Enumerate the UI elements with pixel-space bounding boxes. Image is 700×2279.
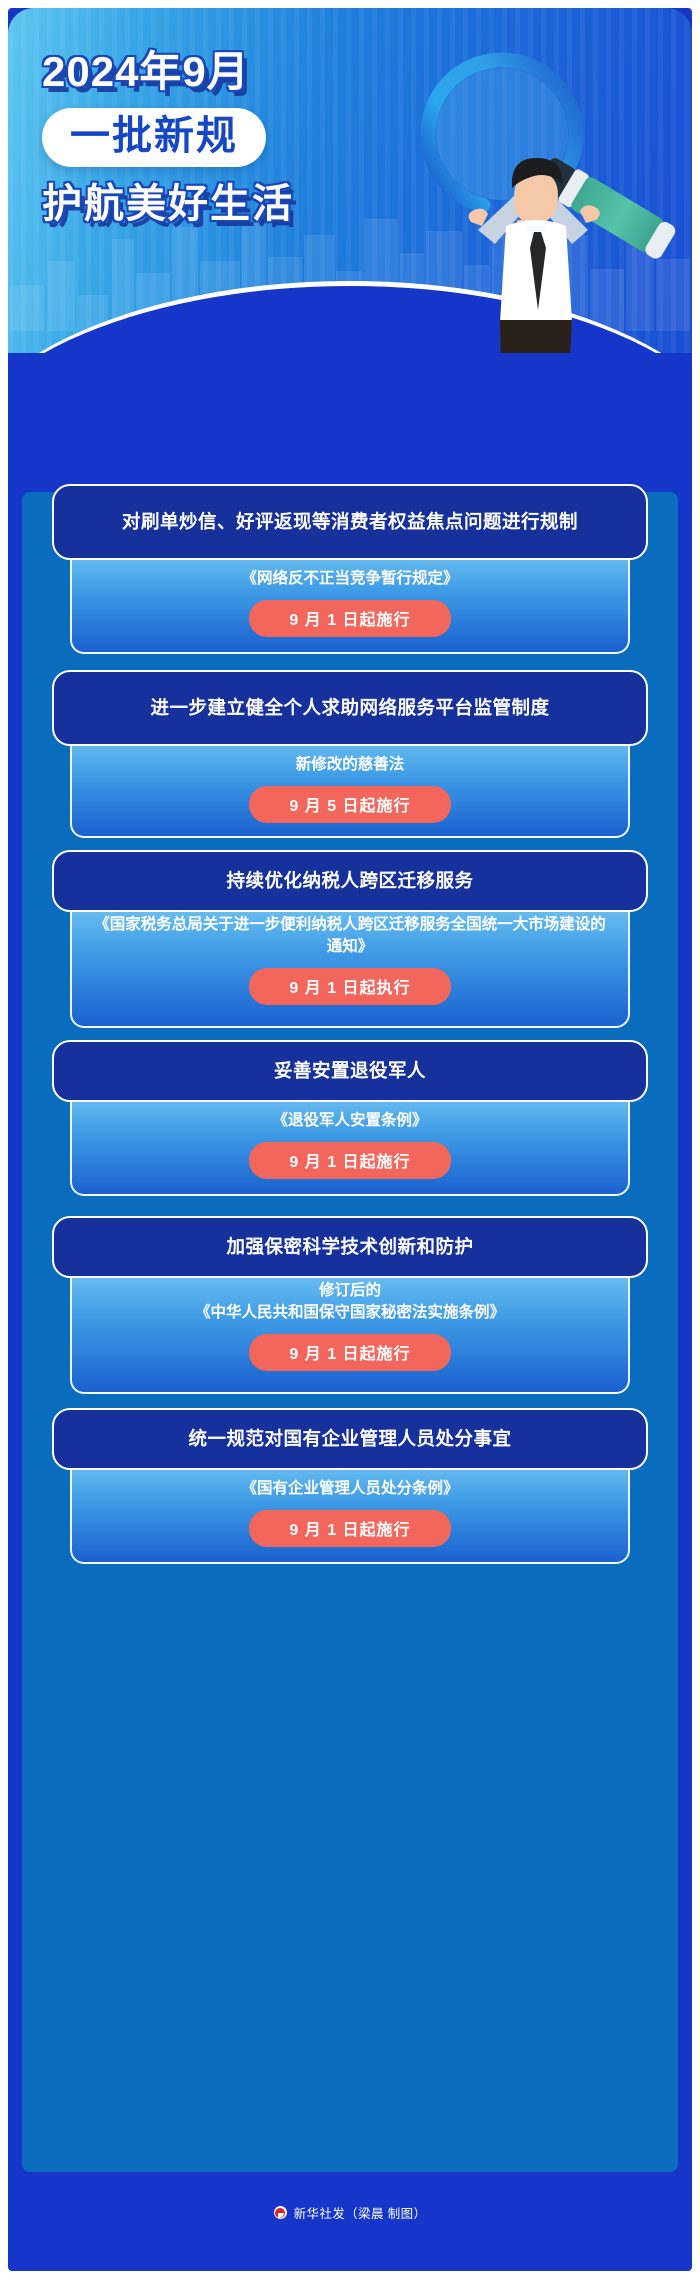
card-headline: 对刷单炒信、好评返现等消费者权益焦点问题进行规制 <box>52 484 648 560</box>
title-pill: 一批新规 <box>42 108 266 167</box>
footer-credit-text: 新华社发（梁晨 制图） <box>294 2203 427 2222</box>
cards-panel: 《网络反不正当竞争暂行规定》9 月 1 日起施行对刷单炒信、好评返现等消费者权益… <box>22 492 678 2172</box>
card-headline: 统一规范对国有企业管理人员处分事宜 <box>52 1408 648 1470</box>
magnifier-man-illustration <box>374 30 692 353</box>
effective-date-badge: 9 月 1 日起施行 <box>249 1334 450 1371</box>
title-line-3: 护航美好生活 <box>42 183 342 225</box>
card-headline: 进一步建立健全个人求助网络服务平台监管制度 <box>52 670 648 746</box>
card-headline: 持续优化纳税人跨区迁移服务 <box>52 850 648 912</box>
effective-date-badge: 9 月 1 日起施行 <box>249 1142 450 1179</box>
effective-date-badge: 9 月 1 日起施行 <box>249 600 450 637</box>
poster-frame: 2024年9月 一批新规 护航美好生活 《网络反不正当竞争暂行规定》9 月 1 … <box>8 8 692 2271</box>
card-detail-box: 《国家税务总局关于进一步便利纳税人跨区迁移服务全国统一大市场建设的通知》9 月 … <box>70 896 630 1028</box>
card-headline: 妥善安置退役军人 <box>52 1040 648 1102</box>
hero-banner: 2024年9月 一批新规 护航美好生活 <box>8 8 692 353</box>
hero-title-block: 2024年9月 一批新规 护航美好生活 <box>42 50 342 225</box>
card-detail-box: 《退役军人安置条例》9 月 1 日起施行 <box>70 1086 630 1196</box>
card-detail-box: 《国有企业管理人员处分条例》9 月 1 日起施行 <box>70 1454 630 1564</box>
effective-date-badge: 9 月 1 日起施行 <box>249 1510 450 1547</box>
xinhua-logo-icon <box>274 2206 287 2219</box>
title-line-1: 2024年9月 <box>42 50 342 94</box>
effective-date-badge: 9 月 5 日起施行 <box>249 786 450 823</box>
card-headline: 加强保密科学技术创新和防护 <box>52 1216 648 1278</box>
card-detail-box: 《网络反不正当竞争暂行规定》9 月 1 日起施行 <box>70 544 630 654</box>
footer-credit: 新华社发（梁晨 制图） <box>8 2203 692 2222</box>
card-detail-box: 新修改的慈善法9 月 5 日起施行 <box>70 730 630 838</box>
effective-date-badge: 9 月 1 日起执行 <box>249 968 450 1005</box>
card-detail-box: 修订后的 《中华人民共和国保守国家秘密法实施条例》9 月 1 日起施行 <box>70 1262 630 1394</box>
